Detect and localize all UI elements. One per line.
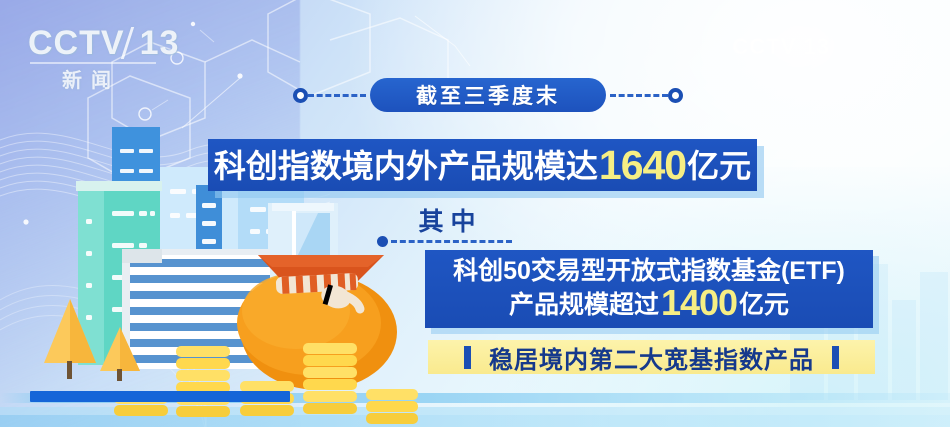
connector-line: [377, 236, 512, 247]
header-pill-label: 截至三季度末: [370, 78, 606, 112]
sub-headline-prefix: 产品规模超过: [509, 291, 659, 319]
connector-block: 其中: [377, 202, 517, 238]
connector-label: 其中: [377, 202, 517, 238]
sub-headline-suffix: 亿元: [739, 291, 789, 319]
marker-bar-left-icon: [464, 346, 471, 369]
sub-headline-line2: 产品规模超过1400亿元: [509, 286, 789, 322]
dashed-connector-right: [610, 94, 668, 97]
cctv-logo-number: 13: [131, 26, 184, 60]
connector-dot-icon: [377, 236, 388, 247]
main-headline-prefix: 科创指数境内外产品规模达: [214, 148, 598, 184]
header-pill-row: 截至三季度末: [293, 78, 683, 112]
main-headline-suffix: 亿元: [687, 148, 751, 184]
ground-bar: [30, 391, 290, 402]
cctv-logo: CCTV13 新闻: [28, 26, 178, 92]
dashed-connector-left: [308, 94, 366, 97]
news-graphic-slide: CCTV13 新闻 CCTV 13 截至三季度末 科创指数境内外产品规模达164…: [0, 0, 950, 427]
cctv-logo-wordmark: CCTV13: [28, 26, 178, 60]
highlight-banner-label: 稳居境内第二大宽基指数产品: [489, 340, 814, 375]
ring-dot-icon-left: [293, 88, 308, 103]
connector-dashed-line: [391, 240, 512, 243]
sub-headline-value: 1400: [659, 282, 739, 323]
sub-headline-banner: 科创50交易型开放式指数基金(ETF) 产品规模超过1400亿元: [425, 250, 873, 328]
cctv-logo-underline: [30, 62, 156, 64]
highlight-banner: 稳居境内第二大宽基指数产品: [428, 340, 875, 374]
sub-headline-line1: 科创50交易型开放式指数基金(ETF): [453, 256, 845, 286]
main-headline-value: 1640: [598, 142, 687, 188]
cctv-logo-subtitle: 新闻: [62, 64, 178, 93]
ring-dot-icon-right: [668, 88, 683, 103]
main-headline-text: 科创指数境内外产品规模达1640亿元: [214, 141, 751, 189]
cctv-watermark: CCTV 13: [733, 34, 830, 60]
main-headline-banner: 科创指数境内外产品规模达1640亿元: [208, 139, 757, 191]
marker-bar-right-icon: [832, 346, 839, 369]
cctv-logo-text: CCTV: [28, 24, 125, 62]
